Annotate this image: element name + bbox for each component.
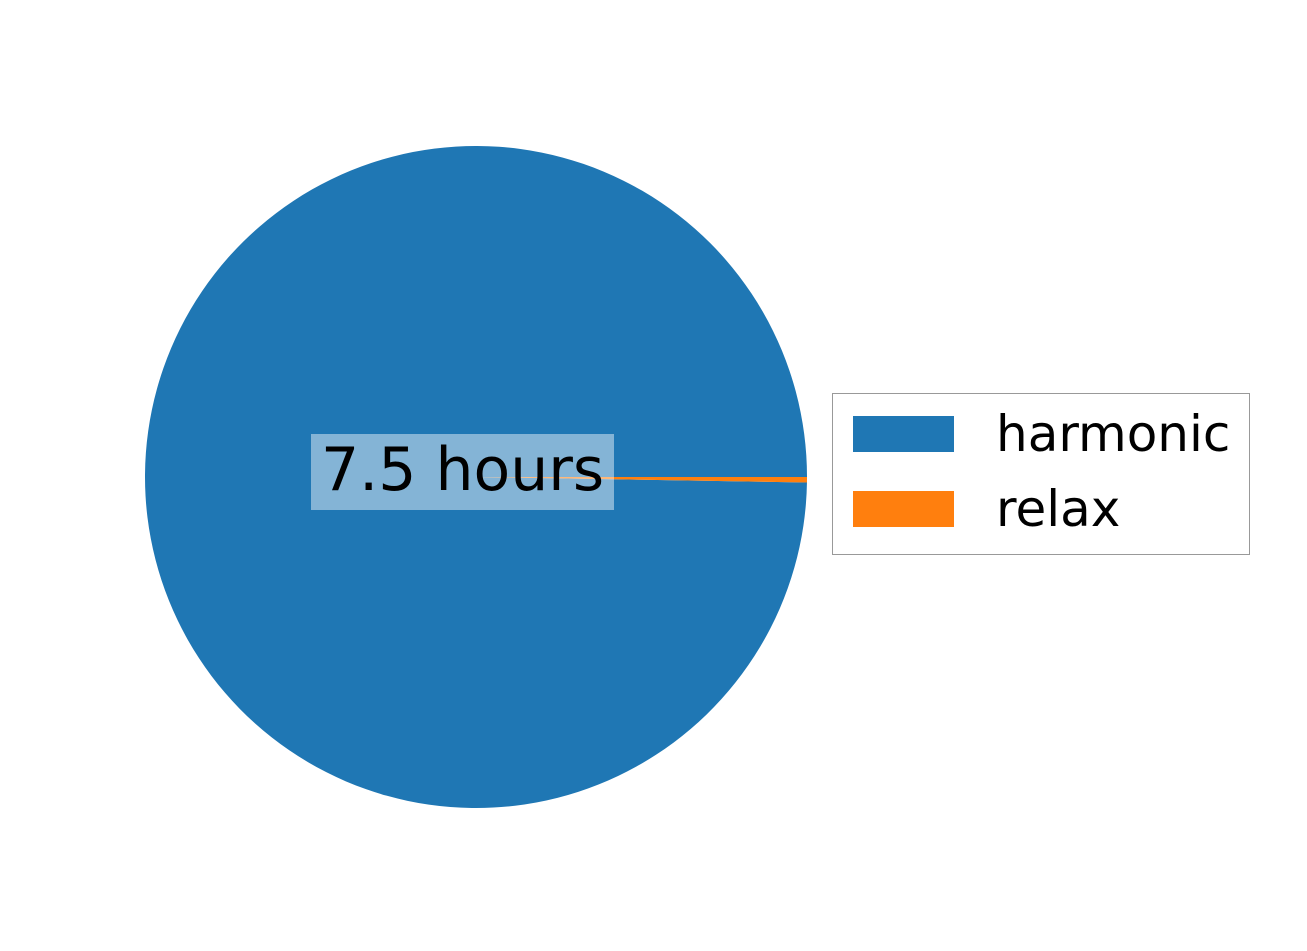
legend: harmonic relax <box>832 393 1250 555</box>
legend-item-relax[interactable]: relax <box>833 483 1249 535</box>
figure-canvas: 7.5 hours harmonic relax <box>0 0 1307 951</box>
legend-item-harmonic[interactable]: harmonic <box>833 408 1249 460</box>
legend-swatch-relax <box>853 491 954 527</box>
legend-swatch-harmonic <box>853 416 954 452</box>
pie-slice-label-harmonic: 7.5 hours <box>311 434 614 510</box>
legend-label-relax: relax <box>996 483 1120 535</box>
legend-label-harmonic: harmonic <box>996 408 1230 460</box>
